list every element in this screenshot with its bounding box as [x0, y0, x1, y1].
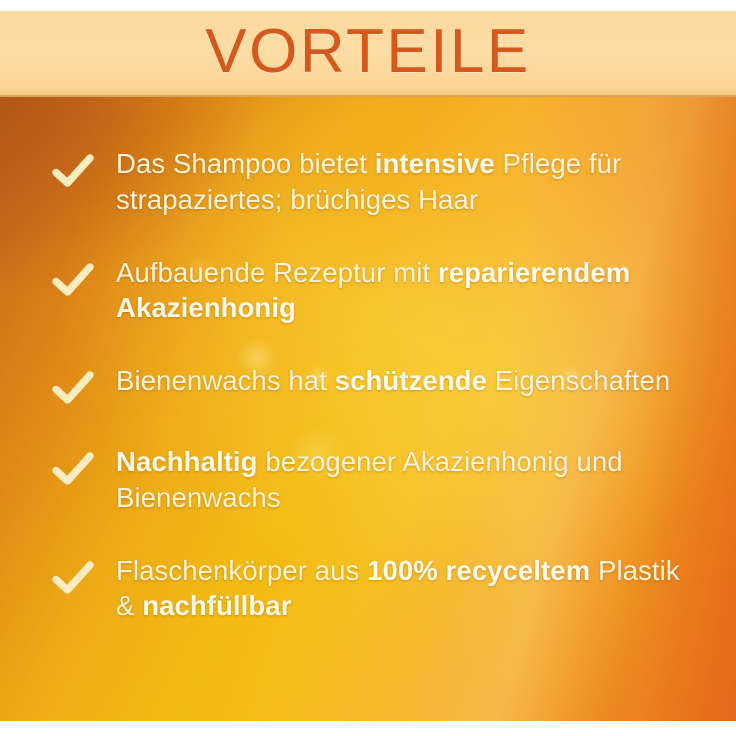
benefit-text: Nachhaltig bezogener Akazienhonig und Bi…: [116, 444, 696, 516]
benefit-text-emphasis: 100% recyceltem: [367, 555, 590, 586]
header-band: VORTEILE: [0, 11, 736, 97]
benefit-item: Aufbauende Rezeptur mit reparierendem Ak…: [52, 255, 696, 327]
benefit-text-span: Bienenwachs hat: [116, 365, 335, 396]
benefit-text: Bienenwachs hat schützende Eigenschaften: [116, 363, 670, 399]
top-white-margin: [0, 0, 736, 11]
benefit-text-emphasis: intensive: [375, 148, 495, 179]
benefit-item: Das Shampoo bietet intensive Pflege für …: [52, 146, 696, 218]
benefit-text: Das Shampoo bietet intensive Pflege für …: [116, 146, 696, 218]
benefit-text-emphasis: nachfüllbar: [142, 590, 291, 621]
check-icon: [52, 261, 94, 299]
benefit-text-span: Aufbauende Rezeptur mit: [116, 257, 438, 288]
benefits-poster: VORTEILE Das Shampoo bietet intensive Pf…: [0, 0, 736, 736]
benefit-item: Flaschenkörper aus 100% recyceltem Plast…: [52, 553, 696, 625]
benefit-text-span: Eigenschaften: [487, 365, 670, 396]
check-icon: [52, 559, 94, 597]
benefit-text-emphasis: Nachhaltig: [116, 446, 258, 477]
benefit-item: Bienenwachs hat schützende Eigenschaften: [52, 363, 696, 407]
bottom-white-margin: [0, 721, 736, 736]
check-icon: [52, 450, 94, 488]
page-title: VORTEILE: [205, 21, 531, 83]
benefit-list: Das Shampoo bietet intensive Pflege für …: [0, 97, 736, 721]
benefit-text-span: Flaschenkörper aus: [116, 555, 367, 586]
benefit-text: Flaschenkörper aus 100% recyceltem Plast…: [116, 553, 696, 625]
benefit-item: Nachhaltig bezogener Akazienhonig und Bi…: [52, 444, 696, 516]
check-icon: [52, 369, 94, 407]
benefit-text-span: Das Shampoo bietet: [116, 148, 375, 179]
check-icon: [52, 152, 94, 190]
benefit-text-emphasis: schützende: [335, 365, 487, 396]
benefit-text: Aufbauende Rezeptur mit reparierendem Ak…: [116, 255, 696, 327]
